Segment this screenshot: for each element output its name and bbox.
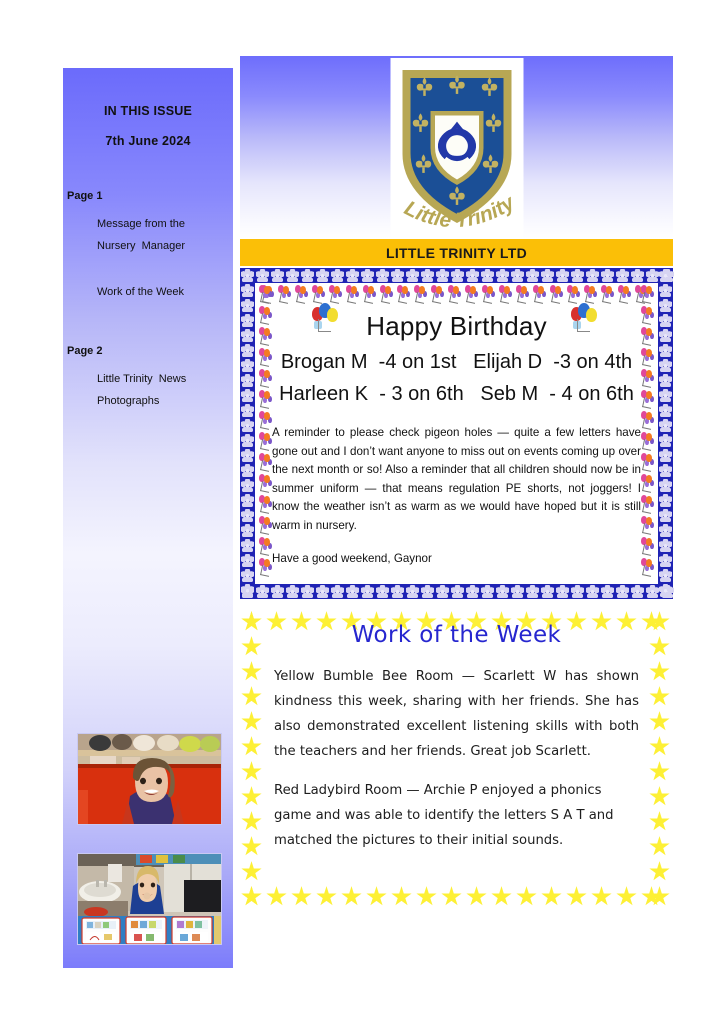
flower-icon — [240, 418, 255, 433]
flower-icon — [345, 584, 360, 599]
photo-child-phonics-sheets-image — [78, 854, 221, 944]
photo-child-red-background — [77, 733, 222, 825]
flower-icon — [360, 268, 375, 283]
flower-icon — [465, 584, 480, 599]
birthday-line-2: Harleen K - 3 on 6th Seb M - 4 on 6th — [272, 383, 641, 406]
star-icon — [240, 684, 265, 709]
flower-icon — [360, 584, 375, 599]
flower-icon — [615, 584, 630, 599]
work-of-the-week-content: Work of the Week Yellow Bumble Bee Room … — [266, 609, 647, 853]
flower-border-left — [240, 268, 255, 599]
flower-icon — [630, 268, 645, 283]
star-icon — [290, 884, 315, 909]
star-icon — [648, 734, 673, 759]
work-of-the-week-heading: Work of the Week — [270, 622, 643, 648]
flower-icon — [375, 268, 390, 283]
flower-icon — [240, 553, 255, 568]
flower-icon — [315, 584, 330, 599]
little-trinity-shield-logo: Little Trinity — [390, 58, 523, 238]
flower-icon — [658, 403, 673, 418]
flower-icon — [555, 268, 570, 283]
star-icon — [490, 884, 515, 909]
flower-icon — [480, 268, 495, 283]
company-name-text: LITTLE TRINITY LTD — [386, 245, 527, 261]
star-icon — [648, 784, 673, 809]
flower-icon — [525, 268, 540, 283]
flower-icon — [630, 584, 645, 599]
notice-box: Happy Birthday Brogan M -4 on 1st Elijah… — [240, 268, 673, 599]
flower-icon — [240, 313, 255, 328]
flower-icon — [270, 268, 285, 283]
flower-icon — [240, 283, 255, 298]
flower-icon — [658, 268, 673, 283]
flower-icon — [658, 508, 673, 523]
flower-icon — [240, 583, 255, 598]
manager-message-body: A reminder to please check pigeon holes … — [272, 424, 641, 536]
star-icon — [390, 884, 415, 909]
star-icon — [648, 834, 673, 859]
flower-icon — [510, 268, 525, 283]
star-icon — [648, 809, 673, 834]
flower-icon — [435, 584, 450, 599]
star-icon — [648, 609, 673, 634]
star-icon — [240, 759, 265, 784]
flower-icon — [390, 268, 405, 283]
star-icon — [240, 709, 265, 734]
birthday-line-1: Brogan M -4 on 1st Elijah D -3 on 4th — [272, 351, 641, 374]
flower-icon — [300, 584, 315, 599]
flower-icon — [300, 268, 315, 283]
star-icon — [240, 609, 265, 634]
flower-icon — [390, 584, 405, 599]
flower-icon — [450, 584, 465, 599]
flower-icon — [330, 268, 345, 283]
company-name-bar: LITTLE TRINITY LTD — [240, 239, 673, 266]
flower-icon — [240, 298, 255, 313]
masthead: Little Trinity — [240, 56, 673, 239]
flower-icon — [240, 538, 255, 553]
sidebar-spacer — [63, 252, 233, 270]
flower-icon — [658, 553, 673, 568]
flower-icon — [240, 568, 255, 583]
star-icon — [240, 734, 265, 759]
flower-icon — [658, 448, 673, 463]
star-icon — [240, 634, 265, 659]
flower-icon — [540, 268, 555, 283]
flower-icon — [420, 584, 435, 599]
star-icon — [365, 884, 390, 909]
star-icon — [648, 709, 673, 734]
manager-message-signoff: Have a good weekend, Gaynor — [272, 550, 641, 569]
star-icon — [240, 834, 265, 859]
flower-icon — [405, 584, 420, 599]
star-icon — [340, 884, 365, 909]
flower-icon — [658, 493, 673, 508]
flower-icon — [495, 268, 510, 283]
flower-icon — [330, 584, 345, 599]
flower-icon — [375, 584, 390, 599]
balloon-cluster-right-icon — [569, 303, 603, 333]
star-icon — [240, 784, 265, 809]
flower-icon — [240, 463, 255, 478]
flower-icon — [255, 584, 270, 599]
flower-icon — [495, 584, 510, 599]
flower-icon — [600, 584, 615, 599]
flower-icon — [658, 583, 673, 598]
flower-icon — [658, 298, 673, 313]
flower-icon — [658, 283, 673, 298]
flower-icon — [600, 268, 615, 283]
flower-icon — [240, 478, 255, 493]
star-icon — [240, 809, 265, 834]
star-icon — [515, 884, 540, 909]
sidebar-item-little-trinity-news[interactable]: Little Trinity News — [97, 373, 233, 385]
flower-border-right — [658, 268, 673, 599]
flower-icon — [480, 584, 495, 599]
notice-inner-panel: Happy Birthday Brogan M -4 on 1st Elijah… — [255, 283, 658, 584]
flower-icon — [570, 268, 585, 283]
star-border-left — [240, 609, 265, 909]
star-icon — [565, 884, 590, 909]
notice-content: Happy Birthday Brogan M -4 on 1st Elijah… — [261, 289, 652, 578]
shield-icon: Little Trinity — [390, 58, 523, 238]
flower-icon — [585, 268, 600, 283]
balloon-cluster-left-icon — [310, 303, 344, 333]
flower-icon — [240, 508, 255, 523]
flower-icon — [658, 523, 673, 538]
flower-icon — [570, 584, 585, 599]
flower-icon — [510, 584, 525, 599]
sidebar-item-message-from-manager-line2[interactable]: Nursery Manager — [97, 240, 233, 252]
flower-icon — [285, 268, 300, 283]
flower-icon — [658, 328, 673, 343]
flower-icon — [285, 584, 300, 599]
flower-icon — [658, 568, 673, 583]
flower-icon — [658, 433, 673, 448]
flower-icon — [658, 343, 673, 358]
flower-icon — [585, 584, 600, 599]
sidebar-issue-date: 7th June 2024 — [63, 134, 233, 148]
flower-icon — [240, 268, 255, 283]
newsletter-main-column: Little Trinity LITTLE TRINITY LTD — [240, 56, 673, 909]
sidebar-item-photographs[interactable]: Photographs — [97, 395, 233, 407]
flower-icon — [315, 268, 330, 283]
star-icon — [648, 684, 673, 709]
flower-icon — [555, 584, 570, 599]
flower-icon — [240, 403, 255, 418]
wotw-entry-yellow-bumble-bee-room: Yellow Bumble Bee Room — Scarlett W has … — [274, 664, 639, 764]
star-icon — [240, 859, 265, 884]
star-icon — [590, 884, 615, 909]
star-icon — [465, 884, 490, 909]
flower-icon — [240, 358, 255, 373]
flower-icon — [658, 418, 673, 433]
flower-icon — [658, 463, 673, 478]
flower-icon — [240, 373, 255, 388]
happy-birthday-panel: Happy Birthday Brogan M -4 on 1st Elijah… — [272, 305, 641, 410]
flower-icon — [658, 388, 673, 403]
flower-icon — [345, 268, 360, 283]
sidebar-heading: IN THIS ISSUE — [63, 104, 233, 118]
star-icon — [648, 884, 673, 909]
flower-icon — [240, 523, 255, 538]
sidebar-item-message-from-manager-line1[interactable]: Message from the — [97, 218, 233, 230]
flower-icon — [540, 584, 555, 599]
work-of-the-week-section: Work of the Week Yellow Bumble Bee Room … — [240, 609, 673, 909]
flower-border-top — [240, 268, 673, 283]
sidebar-item-work-of-the-week[interactable]: Work of the Week — [97, 286, 233, 298]
flower-icon — [658, 373, 673, 388]
star-icon — [648, 859, 673, 884]
photo-child-phonics-sheets — [77, 853, 222, 945]
flower-icon — [270, 584, 285, 599]
sidebar-page2-label: Page 2 — [67, 345, 233, 357]
flower-icon — [240, 388, 255, 403]
star-icon — [415, 884, 440, 909]
flower-icon — [465, 268, 480, 283]
flower-icon — [658, 313, 673, 328]
flower-icon — [615, 268, 630, 283]
star-icon — [315, 884, 340, 909]
star-icon — [648, 634, 673, 659]
flower-icon — [240, 328, 255, 343]
wotw-entry-red-ladybird-room: Red Ladybird Room — Archie P enjoyed a p… — [274, 778, 639, 853]
photo-child-red-background-image — [78, 734, 221, 824]
flower-border-bottom — [240, 584, 673, 599]
flower-icon — [240, 493, 255, 508]
flower-icon — [420, 268, 435, 283]
flower-icon — [255, 268, 270, 283]
flower-icon — [525, 584, 540, 599]
star-icon — [240, 659, 265, 684]
flower-icon — [405, 268, 420, 283]
flower-icon — [450, 268, 465, 283]
flower-icon — [435, 268, 450, 283]
flower-icon — [658, 358, 673, 373]
flower-icon — [240, 433, 255, 448]
star-icon — [648, 759, 673, 784]
flower-icon — [240, 343, 255, 358]
star-icon — [440, 884, 465, 909]
sidebar-page1-label: Page 1 — [67, 190, 233, 202]
flower-icon — [658, 478, 673, 493]
star-icon — [540, 884, 565, 909]
star-border-right — [648, 609, 673, 909]
in-this-issue-sidebar: IN THIS ISSUE 7th June 2024 Page 1 Messa… — [63, 68, 233, 968]
star-icon — [648, 659, 673, 684]
star-border-bottom — [240, 884, 673, 909]
star-icon — [265, 884, 290, 909]
flower-icon — [240, 448, 255, 463]
star-icon — [240, 884, 265, 909]
star-icon — [615, 884, 640, 909]
flower-icon — [658, 538, 673, 553]
